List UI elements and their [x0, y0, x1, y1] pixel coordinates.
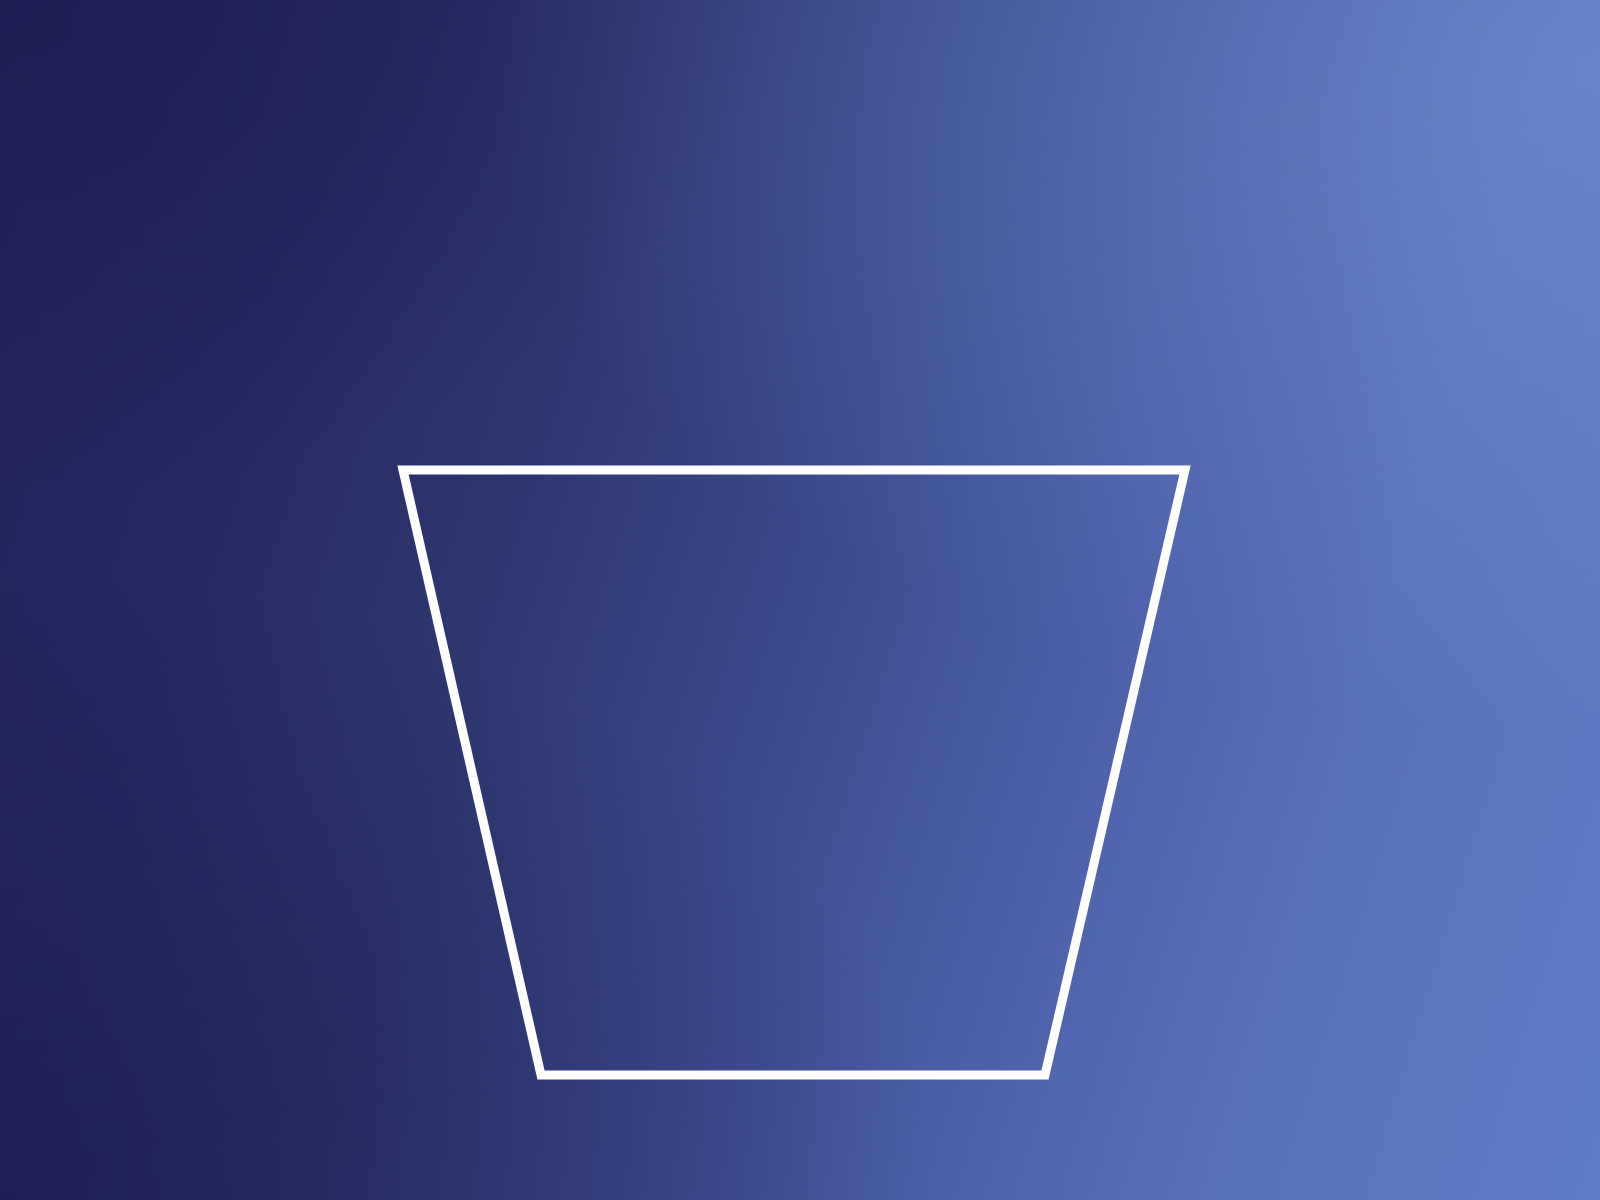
- promo-graphic: drive FAMILY FIRST LIFETIME MULTI-POINT …: [0, 0, 1600, 1200]
- trapezoid-frame: [0, 0, 1600, 1200]
- trapezoid-outline: [403, 470, 1185, 1075]
